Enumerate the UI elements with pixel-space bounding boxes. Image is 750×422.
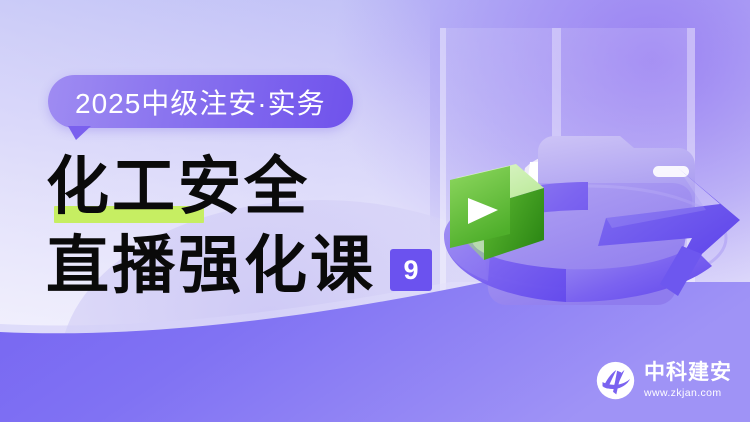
logo-brand-name: 中科建安: [644, 362, 732, 383]
logo-text-block: 中科建安 www.zkjan.com: [644, 362, 732, 399]
course-poster: 2025中级注安·实务 化工安全 直播强化课 9 中科建安 www.zkjan.…: [0, 0, 750, 422]
episode-number-badge: 9: [390, 249, 432, 291]
logo-emblem-icon: [596, 361, 635, 400]
logo-website-url: www.zkjan.com: [644, 388, 732, 399]
headline-block: 化工安全 直播强化课 9: [46, 148, 476, 304]
course-category-badge: 2025中级注安·实务: [48, 75, 353, 128]
headline-line1: 化工安全: [46, 148, 476, 224]
course-category-label: 2025中级注安·实务: [75, 82, 326, 122]
brand-logo: 中科建安 www.zkjan.com: [596, 361, 732, 400]
headline-line2: 直播强化课: [46, 227, 376, 303]
badge-tail: [68, 126, 91, 140]
headline-line1-row: 化工安全: [46, 148, 476, 226]
headline-line2-row: 直播强化课 9: [46, 226, 476, 304]
